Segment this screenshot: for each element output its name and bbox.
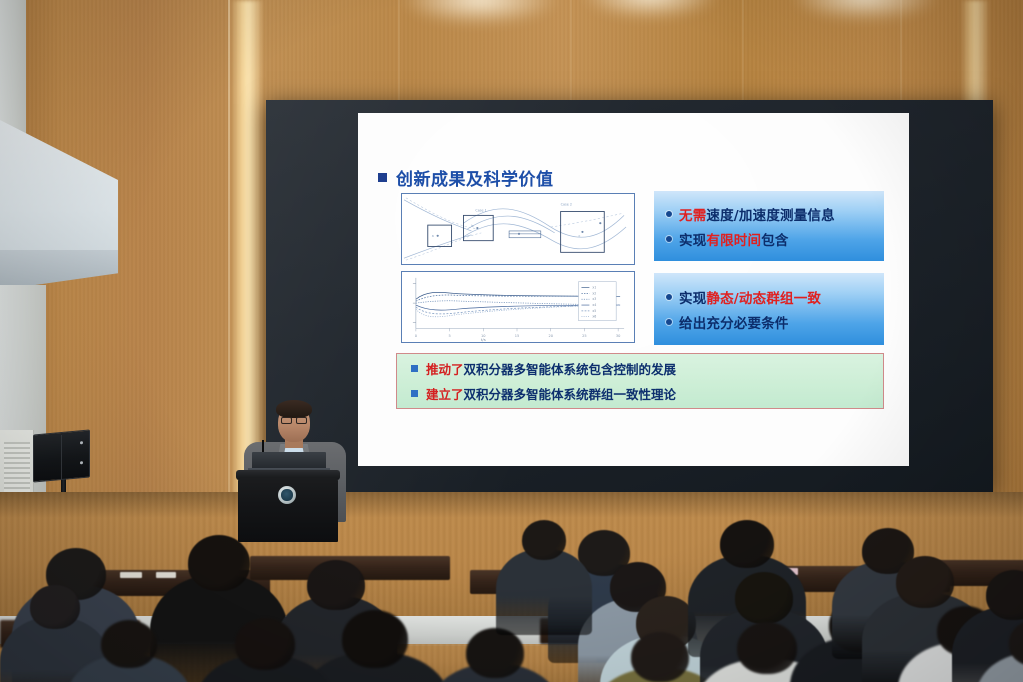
audience-area <box>0 0 1023 682</box>
lecture-hall-photo: 创新成果及科学价值 <box>0 0 1023 682</box>
audience-member-head <box>307 560 365 610</box>
audience-member-head <box>342 610 408 668</box>
audience-member-head <box>101 620 157 668</box>
audience-member-head <box>235 618 295 670</box>
audience-member-head <box>522 520 566 560</box>
audience-member-head <box>735 572 793 624</box>
audience-member-torso <box>496 549 592 635</box>
audience-member-head <box>631 632 689 682</box>
audience-member-head <box>896 556 954 608</box>
audience-member <box>66 620 192 682</box>
audience-member <box>196 618 334 682</box>
audience-member <box>496 520 592 646</box>
audience-member-head <box>188 535 250 591</box>
audience-member-head <box>720 520 774 568</box>
audience-member-head <box>737 622 797 674</box>
audience-member <box>976 620 1023 682</box>
